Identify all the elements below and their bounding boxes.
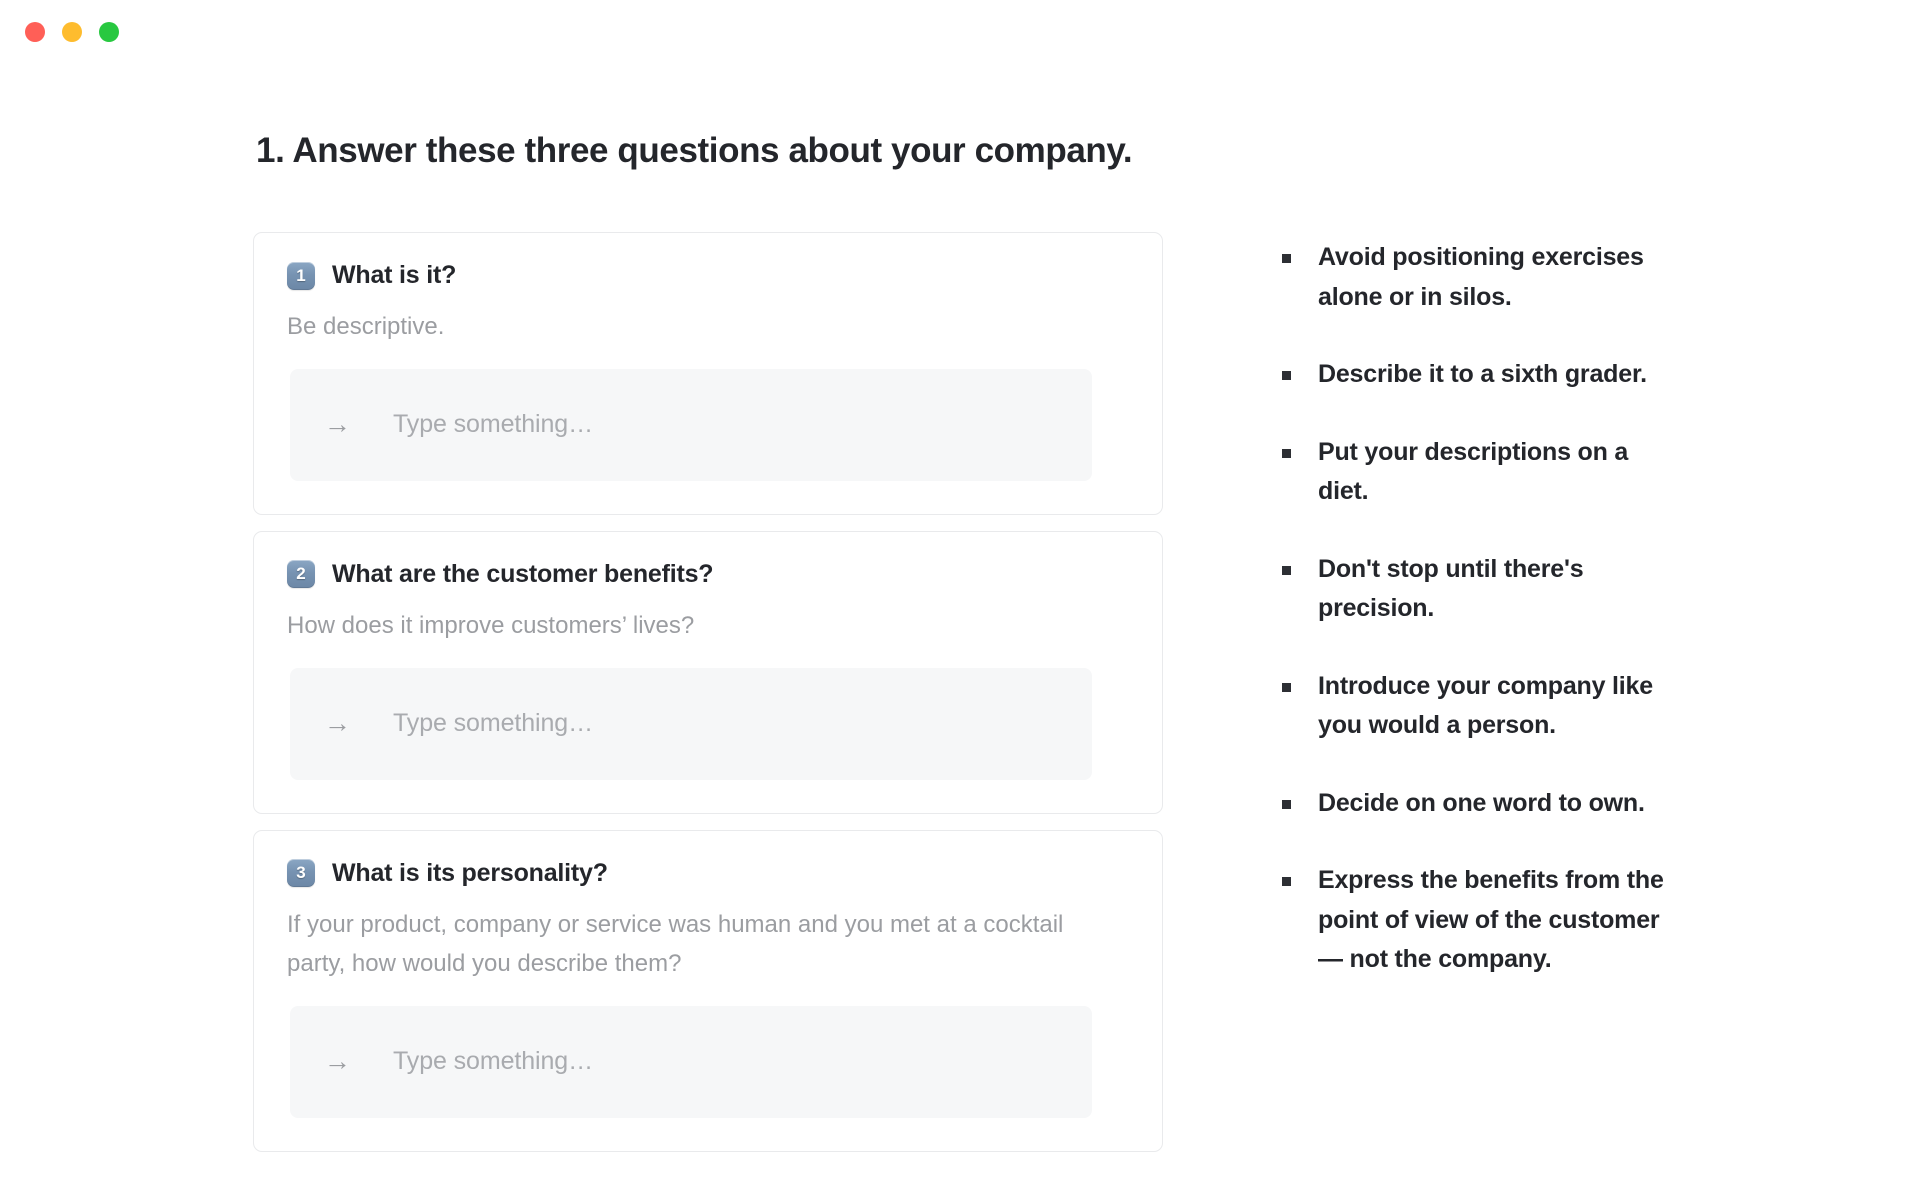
question-title-1: What is it? [332, 261, 456, 290]
window-chrome [0, 0, 1920, 62]
question-card-1: 1 What is it? Be descriptive. → Type som… [253, 232, 1163, 515]
maximize-button[interactable] [99, 22, 119, 42]
question-header-1: 1 What is it? [287, 261, 1129, 290]
traffic-lights [25, 22, 119, 42]
tip-text: Introduce your company like you would a … [1318, 667, 1678, 746]
tip-text: Express the benefits from the point of v… [1318, 861, 1678, 980]
question-card-3: 3 What is its personality? If your produ… [253, 830, 1163, 1152]
answer-input-1[interactable]: → Type something… [290, 369, 1092, 481]
square-bullet-icon [1282, 371, 1291, 380]
tip-text: Decide on one word to own. [1318, 784, 1645, 824]
question-subtitle-2: How does it improve customers’ lives? [287, 607, 1087, 646]
app-page: 1. Answer these three questions about yo… [0, 0, 1920, 1200]
tip-text: Don't stop until there's precision. [1318, 550, 1678, 629]
questions-list: 1 What is it? Be descriptive. → Type som… [253, 232, 1163, 1168]
tip-text: Avoid positioning exercises alone or in … [1318, 238, 1678, 317]
arrow-right-icon: → [324, 411, 351, 438]
question-number-badge-icon: 3 [287, 859, 315, 887]
square-bullet-icon [1282, 683, 1291, 692]
answer-placeholder-3: Type something… [393, 1047, 593, 1076]
page-title: 1. Answer these three questions about yo… [256, 131, 1132, 171]
list-item: Introduce your company like you would a … [1282, 667, 1702, 746]
square-bullet-icon [1282, 877, 1291, 886]
list-item: Don't stop until there's precision. [1282, 550, 1702, 629]
answer-placeholder-1: Type something… [393, 410, 593, 439]
question-card-2: 2 What are the customer benefits? How do… [253, 531, 1163, 814]
list-item: Describe it to a sixth grader. [1282, 355, 1702, 395]
arrow-right-icon: → [324, 1048, 351, 1075]
question-header-2: 2 What are the customer benefits? [287, 560, 1129, 589]
list-item: Decide on one word to own. [1282, 784, 1702, 824]
answer-placeholder-2: Type something… [393, 709, 593, 738]
question-subtitle-3: If your product, company or service was … [287, 906, 1087, 984]
arrow-right-icon: → [324, 710, 351, 737]
minimize-button[interactable] [62, 22, 82, 42]
tip-text: Put your descriptions on a diet. [1318, 433, 1678, 512]
question-subtitle-1: Be descriptive. [287, 308, 1087, 347]
question-title-3: What is its personality? [332, 859, 608, 888]
question-number-badge-icon: 2 [287, 560, 315, 588]
question-number-badge-icon: 1 [287, 262, 315, 290]
answer-input-3[interactable]: → Type something… [290, 1006, 1092, 1118]
square-bullet-icon [1282, 566, 1291, 575]
square-bullet-icon [1282, 449, 1291, 458]
tip-text: Describe it to a sixth grader. [1318, 355, 1647, 395]
tips-list: Avoid positioning exercises alone or in … [1282, 238, 1702, 1018]
list-item: Express the benefits from the point of v… [1282, 861, 1702, 980]
answer-input-2[interactable]: → Type something… [290, 668, 1092, 780]
list-item: Avoid positioning exercises alone or in … [1282, 238, 1702, 317]
square-bullet-icon [1282, 254, 1291, 263]
list-item: Put your descriptions on a diet. [1282, 433, 1702, 512]
close-button[interactable] [25, 22, 45, 42]
square-bullet-icon [1282, 800, 1291, 809]
question-header-3: 3 What is its personality? [287, 859, 1129, 888]
question-title-2: What are the customer benefits? [332, 560, 713, 589]
